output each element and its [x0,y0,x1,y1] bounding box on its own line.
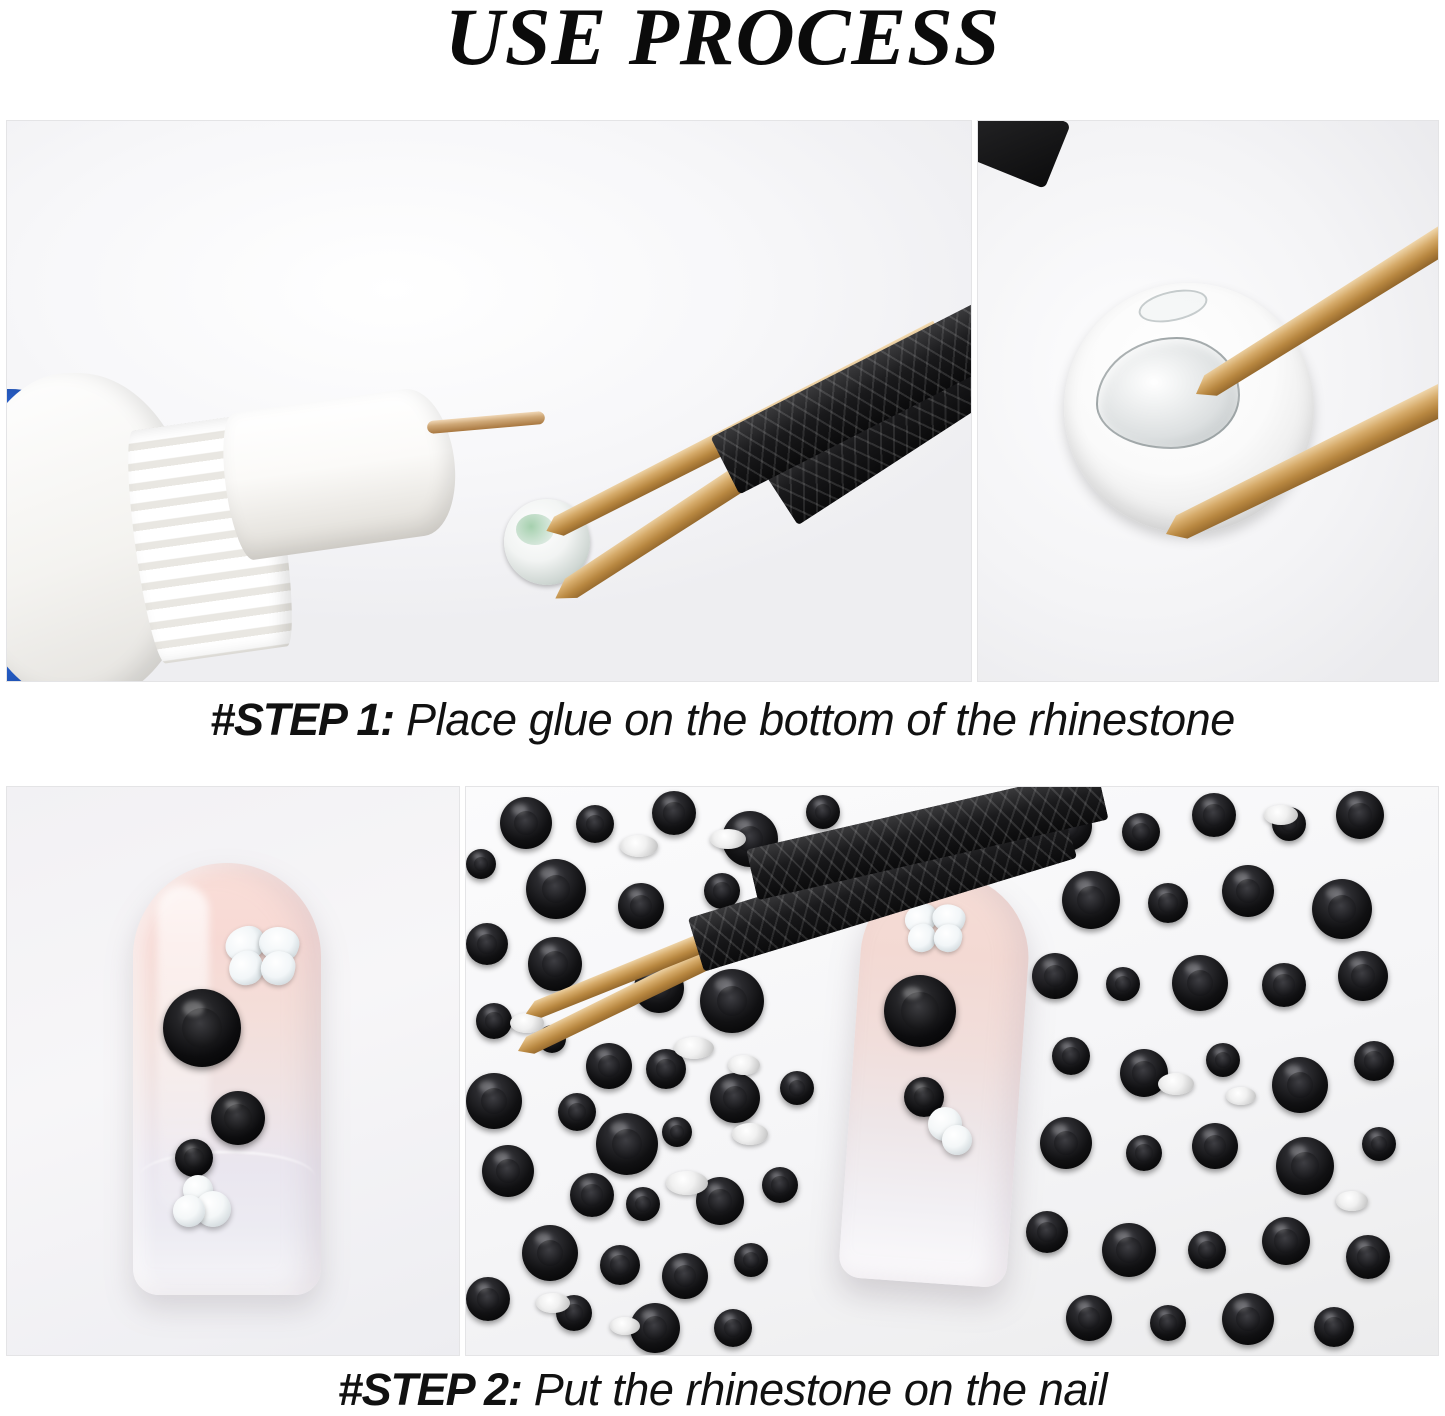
scatter-rhinestone [1354,1041,1394,1081]
scatter-rhinestone [528,937,582,991]
scatter-rhinestone [1188,1231,1226,1269]
scatter-rhinestone [466,1073,522,1129]
scatter-rhinestone [576,805,614,843]
scatter-rhinestone [1102,1223,1156,1277]
scatter-rhinestone [618,883,664,929]
scatter-rhinestone [734,1243,768,1277]
scatter-rhinestone [1192,1123,1238,1169]
step-2-image-row [6,786,1439,1356]
scatter-rhinestone [1172,955,1228,1011]
scatter-rhinestone [476,1003,512,1039]
flipped-rhinestone-back [710,829,746,849]
glue-bottle-and-tweezers-photo [6,120,972,682]
scatter-rhinestone [626,1187,660,1221]
rhinestone-scatter-and-nail-photo [465,786,1439,1356]
flipped-rhinestone-back [666,1171,708,1195]
scatter-rhinestone [1346,1235,1390,1279]
scatter-rhinestone [586,1043,632,1089]
scatter-rhinestone [1206,1043,1240,1077]
scatter-rhinestone [1272,1057,1328,1113]
flipped-rhinestone-back [1226,1087,1256,1105]
scatter-rhinestone [1150,1305,1186,1341]
butterfly-crystal [223,927,299,987]
scatter-rhinestone [1312,879,1372,939]
scatter-rhinestone [570,1173,614,1217]
flipped-rhinestone-back [1158,1073,1194,1095]
scatter-rhinestone [1262,1217,1310,1265]
scatter-rhinestone [1314,1307,1354,1347]
butterfly-crystal [903,904,965,953]
scatter-rhinestone [558,1093,596,1131]
scatter-rhinestone [662,1253,708,1299]
scatter-rhinestone [780,1071,814,1105]
nail-smile-line [139,1151,315,1203]
scatter-rhinestone [1222,1293,1274,1345]
black-rhinestone-large [884,975,956,1047]
scatter-rhinestone [596,1113,658,1175]
black-rhinestone-large [163,989,241,1067]
clear-crystal-lower [173,1195,205,1227]
step-1-image-row [6,120,1439,682]
scatter-rhinestone [1052,1037,1090,1075]
scatter-rhinestone [466,1277,510,1321]
scatter-rhinestone [1066,1295,1112,1341]
scatter-rhinestone [466,849,496,879]
scatter-rhinestone [700,969,764,1033]
scatter-rhinestone [1040,1117,1092,1169]
flipped-rhinestone-back [728,1055,760,1075]
scatter-rhinestone [1338,951,1388,1001]
flipped-rhinestone-back [1264,805,1298,825]
scatter-rhinestone [1276,1137,1334,1195]
scatter-rhinestone [710,1073,760,1123]
scatter-rhinestone [1032,953,1078,999]
scatter-rhinestone [1222,865,1274,917]
scatter-rhinestone [1122,813,1160,851]
black-rhinestone-small [175,1139,213,1177]
step-1-text: Place glue on the bottom of the rhinesto… [394,694,1235,745]
scatter-rhinestone [1126,1135,1162,1171]
step-1-caption: #STEP 1: Place glue on the bottom of the… [0,694,1445,746]
glue-on-rhinestone-back-photo [977,120,1439,682]
decorated-nail-photo [6,786,460,1356]
scatter-rhinestone [714,1309,752,1347]
scatter-rhinestone [526,859,586,919]
scatter-rhinestone [806,795,840,829]
scatter-rhinestone [1148,883,1188,923]
scatter-rhinestone [1106,967,1140,1001]
scatter-rhinestone [500,797,552,849]
step-2-caption: #STEP 2: Put the rhinestone on the nail [0,1364,1445,1416]
flipped-rhinestone-back [536,1293,570,1313]
flipped-rhinestone-back [610,1317,640,1335]
scatter-rhinestone [1062,871,1120,929]
step-2-label: #STEP 2: [338,1364,522,1415]
scatter-rhinestone [652,791,696,835]
scatter-rhinestone [1336,791,1384,839]
step-1-label: #STEP 1: [210,694,394,745]
step-2-text: Put the rhinestone on the nail [522,1364,1108,1415]
scatter-rhinestone [600,1245,640,1285]
scatter-rhinestone [1362,1127,1396,1161]
scatter-rhinestone [522,1225,578,1281]
page-title: USE PROCESS [0,0,1445,78]
scatter-rhinestone [1192,793,1236,837]
scatter-rhinestone [662,1117,692,1147]
scatter-rhinestone [482,1145,534,1197]
scatter-rhinestone [1262,963,1306,1007]
flipped-rhinestone-back [674,1037,714,1059]
flipped-rhinestone-back [1336,1191,1368,1211]
black-rhinestone-medium [211,1091,265,1145]
flipped-rhinestone-back [620,835,658,857]
scatter-rhinestone [466,923,508,965]
flipped-rhinestone-back [732,1123,768,1145]
scatter-rhinestone [762,1167,798,1203]
scatter-rhinestone [1026,1211,1068,1253]
clear-crystal-lower [942,1125,972,1155]
